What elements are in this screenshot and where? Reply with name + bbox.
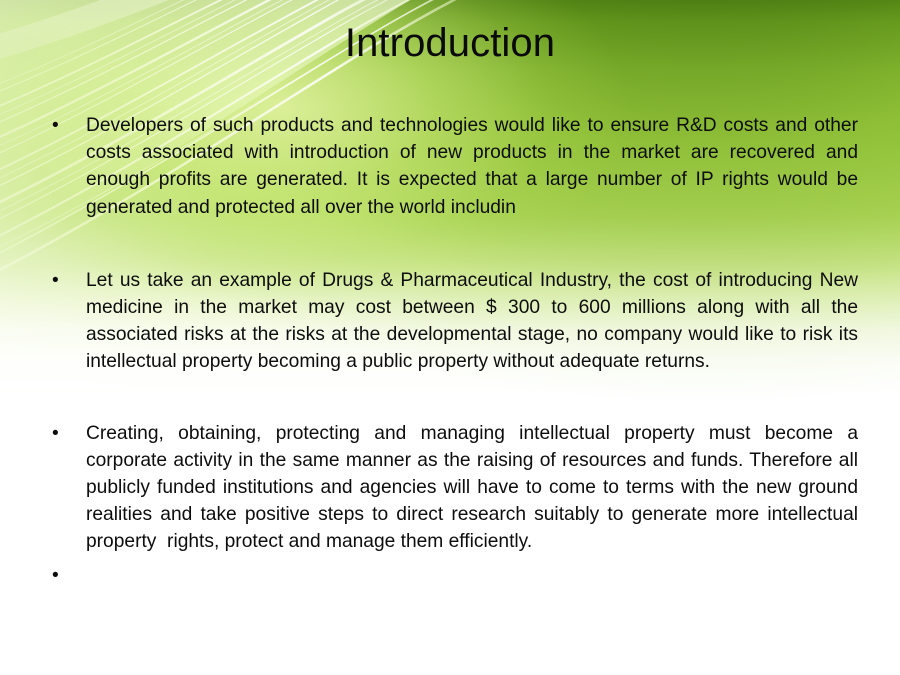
slide-content: Introduction • Developers of such produc… [0,0,900,675]
bullet-text-2: Let us take an example of Drugs & Pharma… [86,267,858,376]
bullet-text-3: Creating, obtaining, protecting and mana… [86,420,858,556]
bullet-item-2: • Let us take an example of Drugs & Phar… [44,267,858,376]
bullet-marker-icon: • [44,420,86,447]
bullet-item-4: • [44,562,858,589]
bullet-spacer-1 [44,221,858,267]
bullet-text-4 [86,562,858,589]
bullet-item-3: • Creating, obtaining, protecting and ma… [44,420,858,556]
bullet-spacer-2 [44,376,858,420]
slide-title: Introduction [0,22,900,64]
bullet-item-1: • Developers of such products and techno… [44,112,858,221]
bullet-text-1: Developers of such products and technolo… [86,112,858,221]
bullet-marker-icon: • [44,267,86,294]
bullet-marker-icon: • [44,112,86,139]
bullet-marker-icon: • [44,562,86,589]
slide-body: • Developers of such products and techno… [44,112,858,589]
presentation-slide: Introduction • Developers of such produc… [0,0,900,675]
